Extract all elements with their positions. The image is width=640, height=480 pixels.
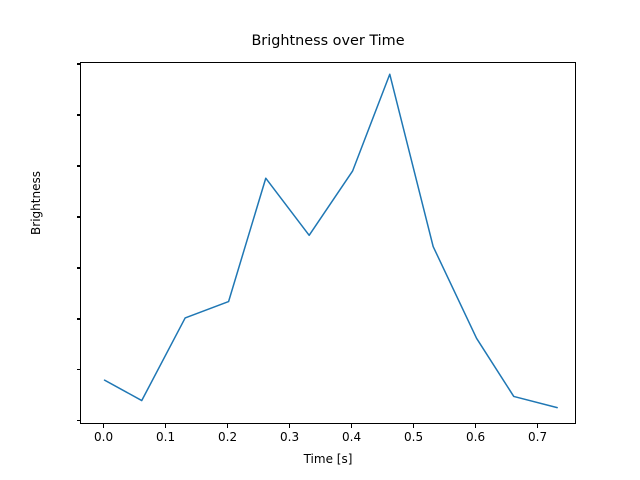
chart-title: Brightness over Time <box>80 32 576 50</box>
data-line-svg <box>81 63 577 425</box>
plot-area <box>80 62 576 424</box>
x-tick-label: 0.2 <box>198 431 258 443</box>
chart-figure: Brightness over Time Brightness Time [s]… <box>0 0 640 480</box>
brightness-line-series <box>105 74 558 407</box>
x-tick-label: 0.3 <box>260 431 320 443</box>
y-axis-label: Brightness <box>29 143 43 263</box>
x-tick-label: 0.1 <box>136 431 196 443</box>
x-tick-label: 0.6 <box>446 431 506 443</box>
x-axis-label: Time [s] <box>80 452 576 466</box>
x-tick-label: 0.7 <box>508 431 568 443</box>
x-tick-label: 0.5 <box>384 431 444 443</box>
x-tick-label: 0.4 <box>322 431 382 443</box>
x-tick-label: 0.0 <box>74 431 134 443</box>
